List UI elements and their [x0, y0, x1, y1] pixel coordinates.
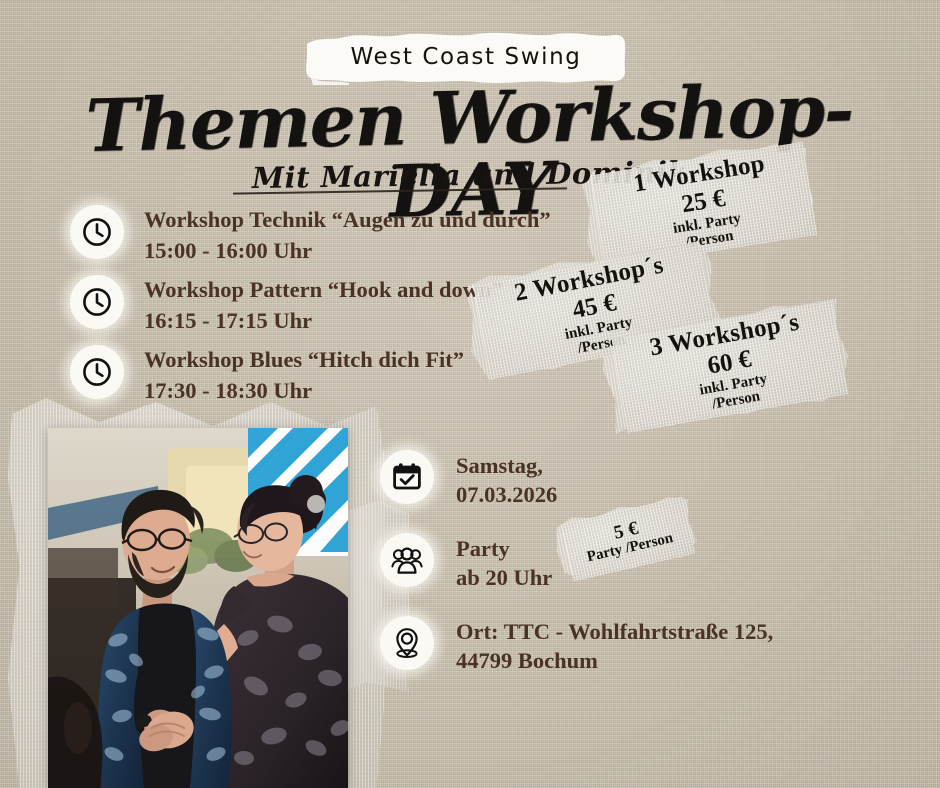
info-line-2: 44799 Bochum [456, 647, 773, 676]
schedule-item-title: Workshop Blues “Hitch dich Fit” [144, 346, 464, 373]
schedule-item-title: Workshop Technik “Augen zu und durch” [144, 206, 551, 233]
map-pin-icon-glyph [392, 627, 422, 659]
info-item-text: Party ab 20 Uhr [456, 533, 552, 593]
event-photo-illustration [48, 428, 348, 788]
schedule-item: Workshop Technik “Augen zu und durch” 15… [70, 205, 551, 265]
schedule-item-time: 15:00 - 16:00 Uhr [144, 236, 551, 265]
info-item-text: Ort: TTC - Wohlfahrtstraße 125, 44799 Bo… [456, 616, 773, 676]
schedule-item: Workshop Blues “Hitch dich Fit” 17:30 - … [70, 345, 464, 405]
schedule-item-text: Workshop Pattern “Hook and down” 16:15 -… [144, 275, 503, 335]
schedule-item-text: Workshop Blues “Hitch dich Fit” 17:30 - … [144, 345, 464, 405]
people-group-icon-glyph [391, 545, 423, 575]
clock-icon-glyph [81, 356, 113, 388]
clock-icon [70, 275, 124, 329]
schedule-item-time: 17:30 - 18:30 Uhr [144, 376, 464, 405]
info-line-2: ab 20 Uhr [456, 564, 552, 593]
info-item-text: Samstag, 07.03.2026 [456, 450, 557, 510]
info-line-1: Party [456, 535, 552, 564]
schedule-item-title: Workshop Pattern “Hook and down” [144, 276, 503, 303]
info-item-location: Ort: TTC - Wohlfahrtstraße 125, 44799 Bo… [380, 616, 773, 676]
calendar-check-icon-glyph [392, 462, 422, 492]
poster-canvas: West Coast Swing Themen Workshop- DAY Mi… [0, 0, 940, 788]
party-price-tag-content: 5 € Party /Person [561, 497, 695, 581]
schedule-item-text: Workshop Technik “Augen zu und durch” 15… [144, 205, 551, 265]
people-group-icon [380, 533, 434, 587]
schedule-item-time: 16:15 - 17:15 Uhr [144, 306, 503, 335]
info-item-party: Party ab 20 Uhr [380, 533, 552, 593]
party-price-tag: 5 € Party /Person [561, 497, 695, 581]
schedule-item: Workshop Pattern “Hook and down” 16:15 -… [70, 275, 503, 335]
calendar-check-icon [380, 450, 434, 504]
map-pin-icon [380, 616, 434, 670]
clock-icon-glyph [81, 216, 113, 248]
info-line-1: Ort: TTC - Wohlfahrtstraße 125, [456, 618, 773, 647]
info-line-1: Samstag, [456, 452, 557, 481]
info-item-date: Samstag, 07.03.2026 [380, 450, 557, 510]
clock-icon [70, 205, 124, 259]
info-line-2: 07.03.2026 [456, 481, 557, 510]
clock-icon [70, 345, 124, 399]
event-photo [48, 428, 348, 788]
clock-icon-glyph [81, 286, 113, 318]
